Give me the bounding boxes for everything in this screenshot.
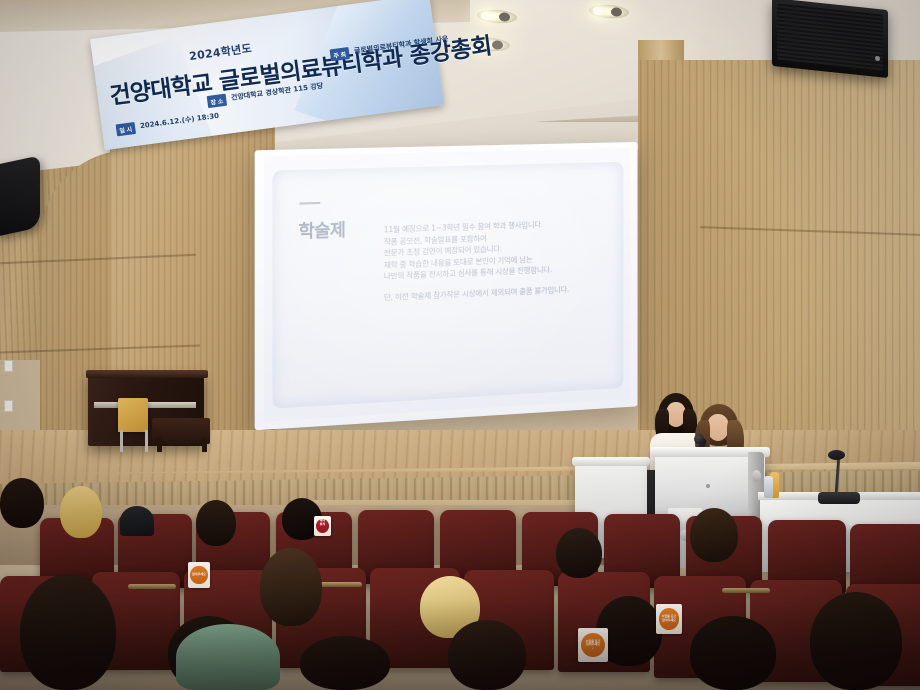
audience-head-12 [300, 636, 390, 690]
seat-sign-orange-1: 수업을 듣고앉아주세요✓ [578, 628, 608, 662]
audience-cap-green [176, 624, 280, 690]
seat-sign-orange-2: 수업을 듣고앉아주세요 [656, 604, 682, 634]
drink-bottle-2 [764, 476, 773, 498]
wall-outlet-1 [4, 360, 13, 372]
audience-head-2 [60, 486, 102, 538]
slide-card: 학술제 11월 예정으로 1~3학년 필수 참여 학과 행사입니다. 작품 공모… [272, 162, 623, 409]
seat-sign-red-text: 예약좌석 [316, 519, 329, 526]
audience-head-15 [448, 620, 526, 690]
podium-knob [752, 470, 761, 482]
seat-sign-orange-3: 앉아주세요 [188, 562, 210, 588]
wooden-chair [118, 398, 148, 432]
slide-line-0: 11월 예정으로 1~3학년 필수 참여 학과 행사입니다. [384, 220, 543, 234]
audience-head-13 [690, 616, 776, 690]
seat-sign-orange-text-3: 앉아주세요 [192, 573, 206, 577]
speaker-led-icon [875, 56, 880, 62]
piano-bench-leg-r [202, 438, 207, 452]
audience-head-6 [556, 528, 602, 578]
gooseneck-mic-base [818, 492, 860, 504]
seat-sign-orange-text-1: 수업을 듣고앉아주세요✓ [586, 640, 601, 651]
audience-head-9 [260, 548, 322, 626]
seat-sign-red-1: 예약좌석 [314, 516, 331, 536]
gooseneck-mic-head [828, 450, 845, 460]
seat-sign-red-circle: 예약좌석 [316, 519, 329, 533]
chair-leg-1 [120, 430, 123, 452]
piano-bench-leg-l [157, 438, 162, 452]
seat-rail-3 [722, 588, 770, 593]
audience-head-1 [0, 478, 44, 528]
audience-head-16 [120, 506, 154, 536]
projection-screen: 학술제 11월 예정으로 1~3학년 필수 참여 학과 행사입니다. 작품 공모… [264, 148, 630, 422]
speaker-grill [777, 3, 883, 70]
banner-tag-label-2: 주 최 [330, 47, 350, 61]
audience-head-14 [810, 592, 902, 690]
slide-dash-rule [300, 202, 321, 205]
av-cabinet-top [572, 457, 650, 466]
banner-tag-label-1: 장 소 [207, 94, 227, 108]
auditorium-photo: 2024학년도 건양대학교 글로벌의료뷰티학과 종강총회 일 시 2024.6.… [0, 0, 920, 690]
seat-sign-orange-text-2: 수업을 듣고앉아주세요 [662, 615, 677, 622]
slide-line-1: 작품 공모전, 학술발표를 포함하여 [384, 233, 487, 246]
audience-head-7 [690, 508, 738, 562]
seat-sign-orange-circle-1: 수업을 듣고앉아주세요✓ [581, 633, 605, 657]
podium-latch [706, 484, 710, 488]
audience-head-3 [196, 500, 236, 546]
piano-lid [86, 370, 208, 378]
wall-speaker-left [0, 155, 40, 236]
wall-outlet-2 [4, 400, 13, 412]
seat-sign-orange-circle-2: 수업을 듣고앉아주세요 [659, 608, 680, 630]
wall-speaker-right [772, 0, 888, 78]
chair-leg-2 [145, 430, 148, 452]
banner-tag-label-0: 일 시 [116, 122, 136, 136]
audience-head-10 [20, 574, 116, 690]
seat-rail-1 [128, 584, 176, 589]
slide-body: 11월 예정으로 1~3학년 필수 참여 학과 행사입니다. 작품 공모전, 학… [384, 217, 617, 304]
handheld-microphone-head [694, 434, 704, 444]
seat-sign-orange-circle-3: 앉아주세요 [190, 566, 208, 585]
presenter-right-face [707, 414, 729, 441]
slide-title: 학술제 [299, 215, 346, 242]
